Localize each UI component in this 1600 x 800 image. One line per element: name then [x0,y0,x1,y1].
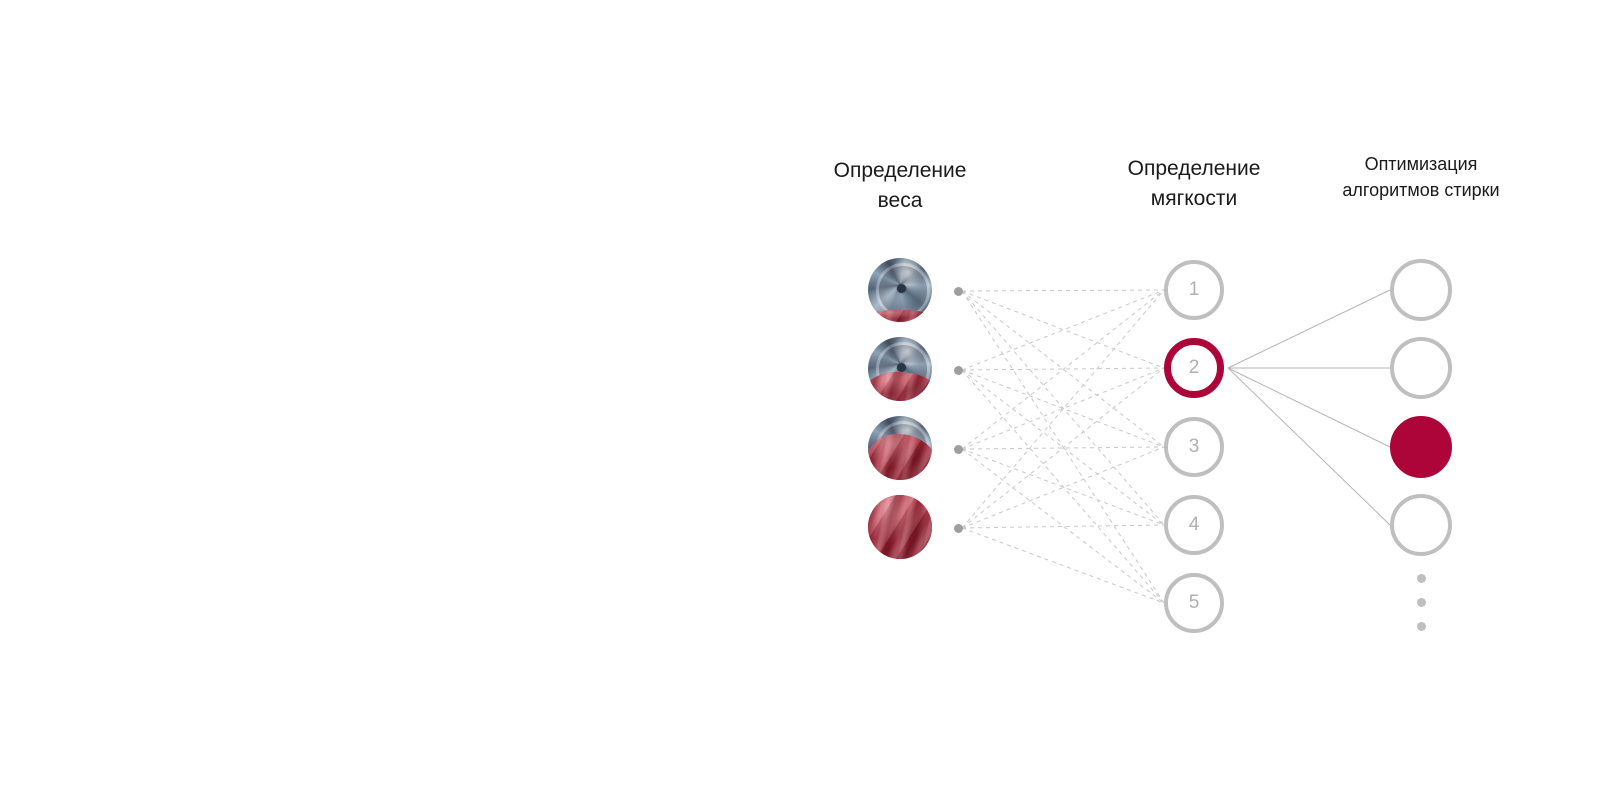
edge-input-3-hidden-3 [962,447,1164,449]
output-ellipsis-dot-3 [1417,622,1426,631]
edge-input-1-hidden-3 [962,291,1164,447]
edge-input-1-hidden-2 [962,291,1164,368]
hidden-node-label: 2 [1189,357,1200,379]
neural-network-diagram: Определение веса Определение мягкости 12… [0,0,1600,800]
input-node-load-stage-3[interactable] [868,416,932,480]
hidden-node-2-selected[interactable]: 2 [1164,338,1224,398]
output-ellipsis-dot-1 [1417,574,1426,583]
edge-input-1-hidden-4 [962,291,1164,525]
edge-input-2-hidden-1 [962,290,1164,370]
hidden-node-label: 3 [1189,436,1200,458]
column-header-weight-line1: Определение [800,156,1000,186]
edge-input-2-hidden-2 [962,368,1164,370]
hidden-node-4[interactable]: 4 [1164,495,1224,555]
edges-input-to-hidden [962,290,1164,603]
drum-photo-icon [868,258,932,322]
edge-input-2-hidden-4 [962,370,1164,525]
output-node-1[interactable] [1390,259,1452,321]
column-header-optimization-line1: Оптимизация [1311,152,1531,178]
drum-photo-icon [868,495,932,559]
drum-photo-icon [868,337,932,401]
output-node-2[interactable] [1390,337,1452,399]
fabric-load-icon [868,310,932,322]
connector-dot-1 [954,287,963,296]
hidden-node-3[interactable]: 3 [1164,417,1224,477]
fabric-load-icon [868,434,932,480]
column-header-weight-line2: веса [800,186,1000,216]
column-header-softness-line2: мягкости [1094,184,1294,214]
edges-layer [0,0,1600,800]
edge-hidden-active-output-4 [1228,368,1390,525]
output-ellipsis-dot-2 [1417,598,1426,607]
edge-input-3-hidden-4 [962,449,1164,525]
edge-input-4-hidden-2 [962,368,1164,528]
hidden-node-label: 1 [1189,279,1200,301]
edge-input-4-hidden-4 [962,525,1164,528]
edges-hidden-to-output [1228,290,1390,525]
hidden-node-5[interactable]: 5 [1164,573,1224,633]
connector-dot-2 [954,366,963,375]
input-node-load-stage-2[interactable] [868,337,932,401]
edge-input-3-hidden-1 [962,290,1164,449]
hidden-node-1[interactable]: 1 [1164,260,1224,320]
edge-hidden-active-output-3 [1228,368,1390,447]
edge-input-1-hidden-5 [962,291,1164,603]
edge-input-2-hidden-3 [962,370,1164,447]
edge-input-1-hidden-1 [962,290,1164,291]
output-node-3-selected[interactable] [1390,416,1452,478]
connector-dot-3 [954,445,963,454]
edge-input-4-hidden-5 [962,528,1164,603]
column-header-softness-line1: Определение [1094,154,1294,184]
output-node-4[interactable] [1390,494,1452,556]
edge-input-4-hidden-3 [962,447,1164,528]
hidden-node-label: 4 [1189,514,1200,536]
input-node-load-stage-4[interactable] [868,495,932,559]
column-header-weight: Определение веса [800,156,1000,216]
column-header-optimization-line2: алгоритмов стирки [1311,178,1531,204]
edge-input-3-hidden-2 [962,368,1164,449]
column-header-softness: Определение мягкости [1094,154,1294,214]
edge-hidden-active-output-1 [1228,290,1390,368]
fabric-load-icon [868,495,932,559]
connector-dot-4 [954,524,963,533]
drum-photo-icon [868,416,932,480]
edge-input-3-hidden-5 [962,449,1164,603]
edge-input-4-hidden-1 [962,290,1164,528]
fabric-load-icon [868,372,932,401]
edge-input-2-hidden-5 [962,370,1164,603]
input-node-load-stage-1[interactable] [868,258,932,322]
hidden-node-label: 5 [1189,592,1200,614]
column-header-optimization: Оптимизация алгоритмов стирки [1311,152,1531,203]
